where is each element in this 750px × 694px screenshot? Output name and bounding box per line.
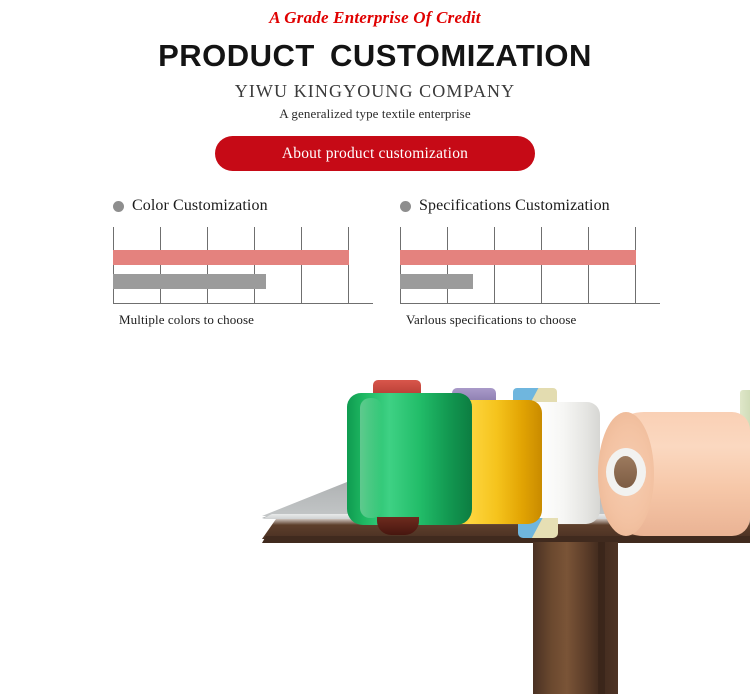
bullet-dot-icon bbox=[400, 201, 411, 212]
bar-series-0 bbox=[113, 250, 349, 265]
chart-plot-area bbox=[400, 227, 638, 304]
chart-header: Specifications Customization bbox=[400, 196, 690, 216]
page-title: PRODUCT CUSTOMIZATION bbox=[0, 38, 750, 74]
bullet-dot-icon bbox=[113, 201, 124, 212]
company-subtitle: A generalized type textile enterprise bbox=[0, 106, 750, 122]
specifications-customization-chart: Specifications Customization Varlous spe… bbox=[400, 196, 690, 328]
chart-caption: Multiple colors to choose bbox=[119, 312, 403, 328]
table-leg-groove bbox=[598, 542, 605, 694]
product-customization-page: A Grade Enterprise Of Credit PRODUCT CUS… bbox=[0, 0, 750, 694]
green-cone-highlight bbox=[360, 398, 382, 518]
chart-plot-area bbox=[113, 227, 351, 304]
company-name: YIWU KINGYOUNG COMPANY bbox=[0, 81, 750, 102]
green-yarn-cone-base bbox=[377, 517, 419, 535]
peach-cone-core-hole bbox=[614, 456, 637, 488]
bars bbox=[400, 227, 638, 304]
chart-caption: Varlous specifications to choose bbox=[406, 312, 690, 328]
bar-series-1 bbox=[400, 274, 473, 289]
table-leg bbox=[533, 542, 618, 694]
table-wood-edge-shadow bbox=[262, 536, 750, 543]
chart-header: Color Customization bbox=[113, 196, 403, 216]
about-product-customization-button[interactable]: About product customization bbox=[215, 136, 535, 171]
product-photo bbox=[0, 350, 750, 694]
chart-title: Color Customization bbox=[132, 197, 268, 215]
tagline: A Grade Enterprise Of Credit bbox=[0, 8, 750, 28]
bar-series-0 bbox=[400, 250, 636, 265]
color-customization-chart: Color Customization Multiple colors to c… bbox=[113, 196, 403, 328]
chart-title: Specifications Customization bbox=[419, 197, 610, 215]
bars bbox=[113, 227, 351, 304]
bar-series-1 bbox=[113, 274, 266, 289]
